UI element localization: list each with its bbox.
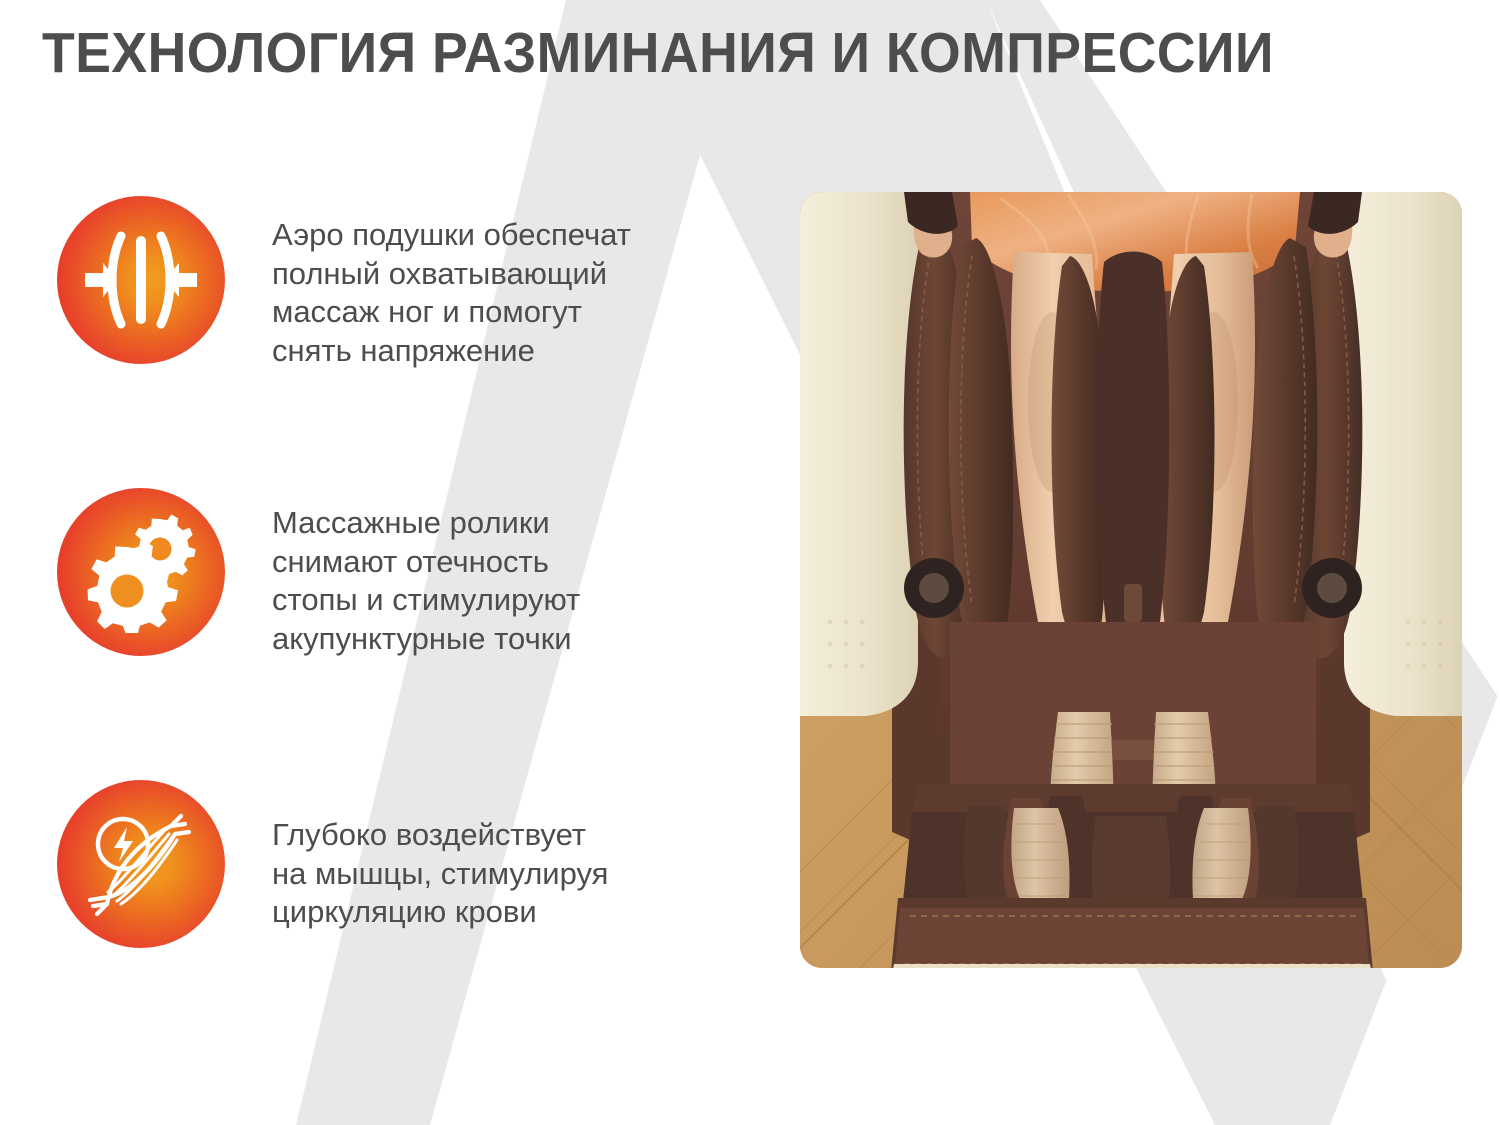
gears-icon [57,488,225,656]
feature-item-text: Массажные ролики снимают отечность стопы… [272,488,580,658]
feature-item-aero-pillows: Аэро подушки обеспечат полный охватывающ… [0,196,760,370]
feature-item-text: Глубоко воздействует на мышцы, стимулиру… [272,780,608,932]
muscle-stimulation-icon [57,780,225,948]
compression-arrows-icon [57,196,225,364]
feature-item-muscle-depth: Глубоко воздействует на мышцы, стимулиру… [0,780,760,948]
product-photo [800,192,1462,968]
infographic-canvas: ТЕХНОЛОГИЯ РАЗМИНАНИЯ И КОМПРЕССИИ Аэро … [0,0,1500,1125]
feature-item-text: Аэро подушки обеспечат полный охватывающ… [272,196,631,370]
feature-list: Аэро подушки обеспечат полный охватывающ… [0,0,760,1125]
feature-item-massage-rollers: Массажные ролики снимают отечность стопы… [0,488,760,658]
